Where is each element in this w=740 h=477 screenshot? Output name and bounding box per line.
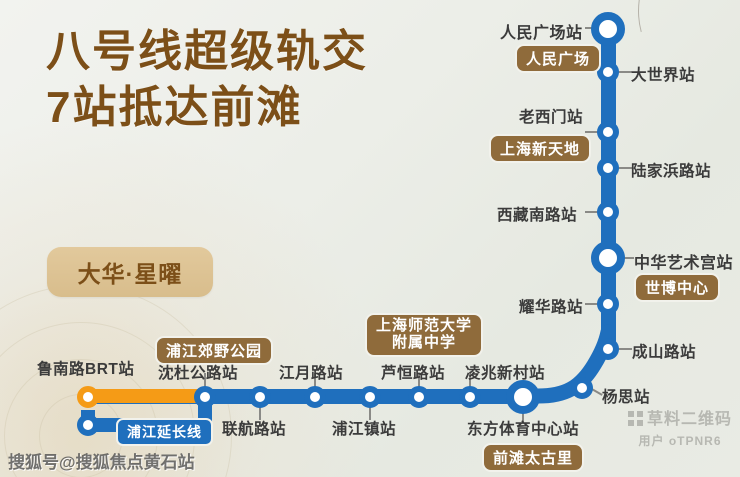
station-label-zhonghua-yishugong: 中华艺术宫站 bbox=[634, 249, 733, 273]
badge-shibo-zhongxin: 世博中心 bbox=[634, 273, 720, 302]
badge-shnu-line-1: 上海师范大学 bbox=[376, 318, 472, 335]
badge-qiantan-taikoo-li: 前滩太古里 bbox=[482, 443, 584, 472]
watermark-bottom-right: 草料二维码 用户 oTPNR6 bbox=[628, 405, 732, 449]
station-dot-pujiang-zhen[interactable] bbox=[359, 386, 381, 408]
station-dot-lingzhao-xincun[interactable] bbox=[459, 386, 481, 408]
station-dot-luheng-lu[interactable] bbox=[408, 386, 430, 408]
station-dot-branch-terminus[interactable] bbox=[77, 414, 99, 436]
station-label-dashijie: 大世界站 bbox=[631, 63, 695, 85]
station-dot-lujiabang-lu[interactable] bbox=[597, 157, 619, 179]
station-dot-renmin-guangchang[interactable] bbox=[591, 12, 625, 46]
brand-name: 大华·星曜 bbox=[78, 255, 183, 289]
watermark-qr-text: 草料二维码 bbox=[647, 411, 732, 428]
brand-plate: 大华·星曜 bbox=[47, 247, 213, 297]
badge-renmin-guangchang: 人民广场 bbox=[515, 44, 601, 73]
badge-shnu-line-2: 附属中学 bbox=[376, 335, 472, 352]
tick-yangsi bbox=[591, 388, 602, 396]
station-dot-yangsi[interactable] bbox=[571, 377, 593, 399]
brt-line-orange bbox=[80, 389, 212, 403]
station-dot-lunan-lu-brt[interactable] bbox=[77, 386, 99, 408]
watermark-qr-line: 草料二维码 bbox=[628, 405, 732, 429]
station-dot-zhonghua-yishugong[interactable] bbox=[591, 241, 625, 275]
qr-code-icon bbox=[628, 411, 643, 426]
station-dot-xizang-nan-lu[interactable] bbox=[597, 201, 619, 223]
station-label-jiangyue-lu: 江月路站 bbox=[279, 361, 343, 383]
decor-arc bbox=[608, 0, 740, 122]
station-label-lujiabang-lu: 陆家浜路站 bbox=[631, 159, 711, 181]
station-label-lunan-lu-brt: 鲁南路BRT站 bbox=[37, 357, 134, 379]
badge-shanghai-xintiandi: 上海新天地 bbox=[489, 134, 591, 163]
station-label-dongfang-tiyu-zhongxin: 东方体育中心站 bbox=[467, 417, 579, 439]
station-dot-laoximen[interactable] bbox=[597, 121, 619, 143]
station-label-shendu-gonglu: 沈杜公路站 bbox=[158, 361, 238, 383]
station-label-yaohua-lu: 耀华路站 bbox=[519, 295, 583, 317]
headline-line-1: 八号线超级轨交 bbox=[46, 28, 368, 76]
station-label-luheng-lu: 芦恒路站 bbox=[381, 361, 445, 383]
station-label-pujiang-zhen: 浦江镇站 bbox=[332, 417, 396, 439]
station-dot-yaohua-lu[interactable] bbox=[597, 293, 619, 315]
station-label-yangsi: 杨思站 bbox=[602, 385, 650, 407]
station-label-chengshan-lu: 成山路站 bbox=[632, 340, 696, 362]
station-dot-shendu-gonglu[interactable] bbox=[194, 386, 216, 408]
station-dot-dongfang-tiyu-zhongxin[interactable] bbox=[506, 380, 540, 414]
station-dot-lianhang-lu[interactable] bbox=[249, 386, 271, 408]
watermark-user-text: 用户 oTPNR6 bbox=[628, 432, 732, 449]
station-label-renmin-guangchang: 人民广场站 bbox=[500, 19, 583, 43]
station-label-lianhang-lu: 联航路站 bbox=[222, 417, 286, 439]
poster-headline: 八号线超级轨交 7站抵达前滩 bbox=[46, 28, 368, 131]
decor-ring-4 bbox=[39, 394, 123, 477]
headline-line-2: 7站抵达前滩 bbox=[46, 84, 368, 132]
badge-shanghai-shifan-fuzhong: 上海师范大学 附属中学 bbox=[365, 313, 483, 357]
metro-line-poster: 八号线超级轨交 7站抵达前滩 大华·星曜 bbox=[0, 0, 740, 477]
station-dot-chengshan-lu[interactable] bbox=[597, 338, 619, 360]
station-label-lingzhao-xincun: 凌兆新村站 bbox=[465, 361, 545, 383]
station-label-laoximen: 老西门站 bbox=[519, 105, 583, 127]
station-label-xizang-nan-lu: 西藏南路站 bbox=[497, 203, 577, 225]
badge-pujiang-yanchangxian: 浦江延长线 bbox=[116, 418, 213, 446]
station-dot-jiangyue-lu[interactable] bbox=[304, 386, 326, 408]
